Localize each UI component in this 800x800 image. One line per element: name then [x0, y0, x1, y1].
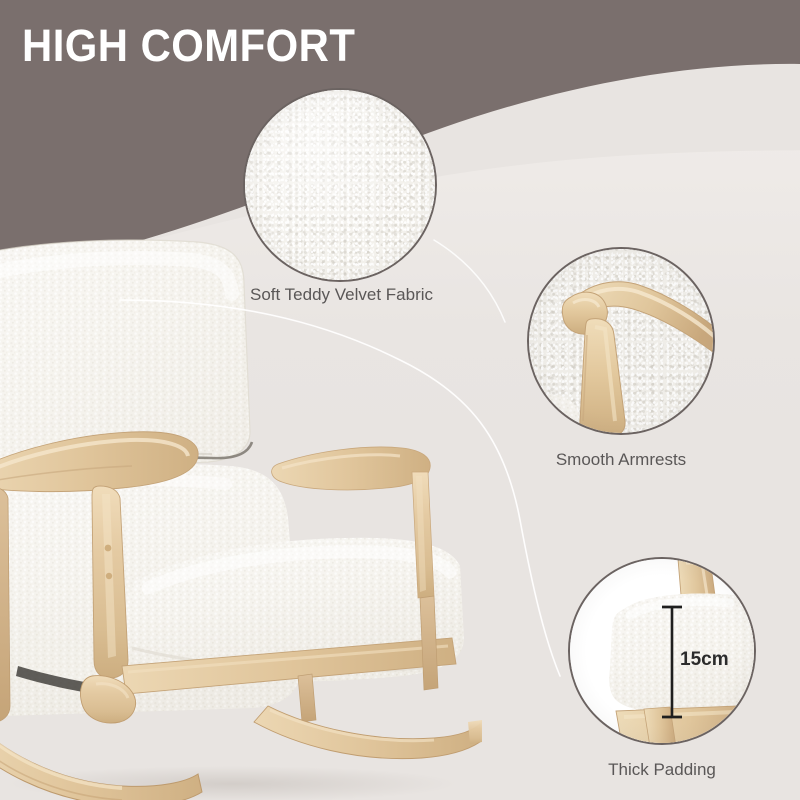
padding-vignette	[570, 559, 754, 743]
padding-detail-icon: 15cm	[568, 557, 756, 745]
page-title: HIGH COMFORT	[22, 22, 355, 69]
fabric-swatch-icon	[243, 88, 437, 282]
infographic-canvas: HIGH COMFORT	[0, 0, 800, 800]
armrest-detail-icon	[527, 247, 715, 435]
callout-label-fabric: Soft Teddy Velvet Fabric	[250, 285, 430, 305]
product-photo-rocking-chair	[0, 236, 482, 800]
armrest-vignette	[529, 249, 713, 433]
callout-label-padding: Thick Padding	[572, 760, 752, 780]
callout-label-armrests: Smooth Armrests	[531, 450, 711, 470]
swatch-vignette	[245, 90, 435, 280]
